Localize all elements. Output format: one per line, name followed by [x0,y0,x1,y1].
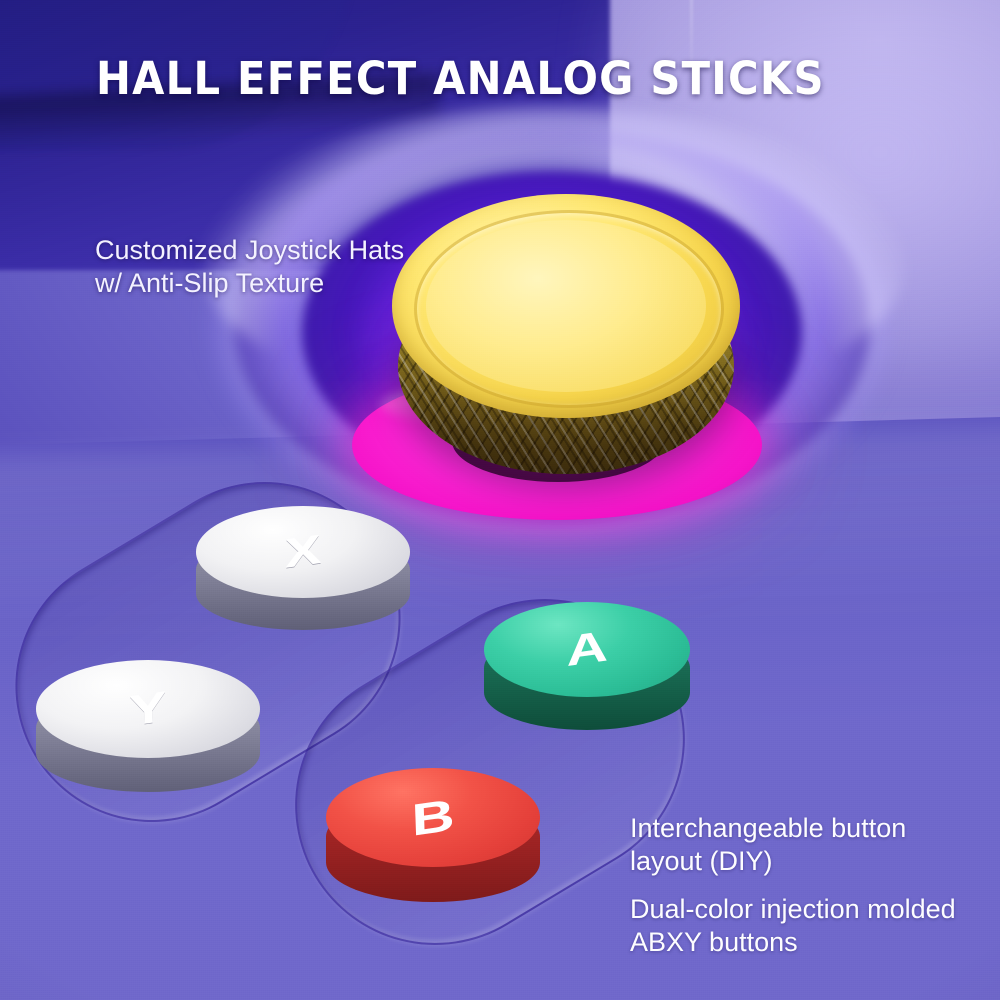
button-y[interactable]: Y [36,660,260,792]
button-b[interactable]: B [326,768,540,902]
product-feature-image: X Y A B HALL EFFECT ANALOG STICKS Custom… [0,0,1000,1000]
caption-joystick-hats: Customized Joystick Hats w/ Anti-Slip Te… [95,234,425,301]
button-x[interactable]: X [196,506,410,630]
joystick-hat-face [426,220,706,392]
caption-dual-color-buttons: Dual-color injection molded ABXY buttons [630,893,980,960]
joystick-hat[interactable] [392,194,742,484]
headline-title: HALL EFFECT ANALOG STICKS [96,52,825,105]
button-a[interactable]: A [484,602,690,730]
caption-interchangeable-layout: Interchangeable button layout (DIY) [630,812,970,879]
